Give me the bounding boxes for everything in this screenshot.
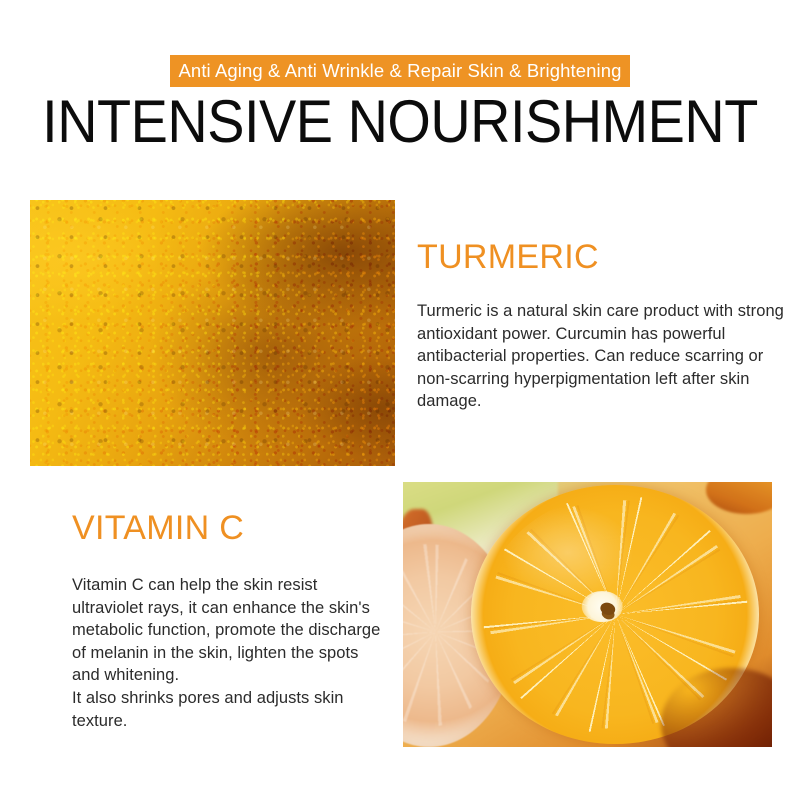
product-benefits-infographic: Anti Aging & Anti Wrinkle & Repair Skin … <box>0 0 800 800</box>
section-heading-turmeric: TURMERIC <box>417 240 599 274</box>
powder-grain-texture-coarse <box>30 200 395 466</box>
turmeric-powder-photo <box>30 200 395 466</box>
section-heading-vitamin-c: VITAMIN C <box>72 511 244 545</box>
section-body-vitamin-c: Vitamin C can help the skin resist ultra… <box>72 574 390 732</box>
benefits-badge-label: Anti Aging & Anti Wrinkle & Repair Skin … <box>178 62 621 81</box>
page-title: INTENSIVE NOURISHMENT <box>28 92 772 152</box>
benefits-badge: Anti Aging & Anti Wrinkle & Repair Skin … <box>170 55 630 87</box>
section-body-turmeric: Turmeric is a natural skin care product … <box>417 300 789 413</box>
peel-sliver-top-right-shape <box>706 482 772 514</box>
orange-citrus-photo <box>403 482 772 747</box>
